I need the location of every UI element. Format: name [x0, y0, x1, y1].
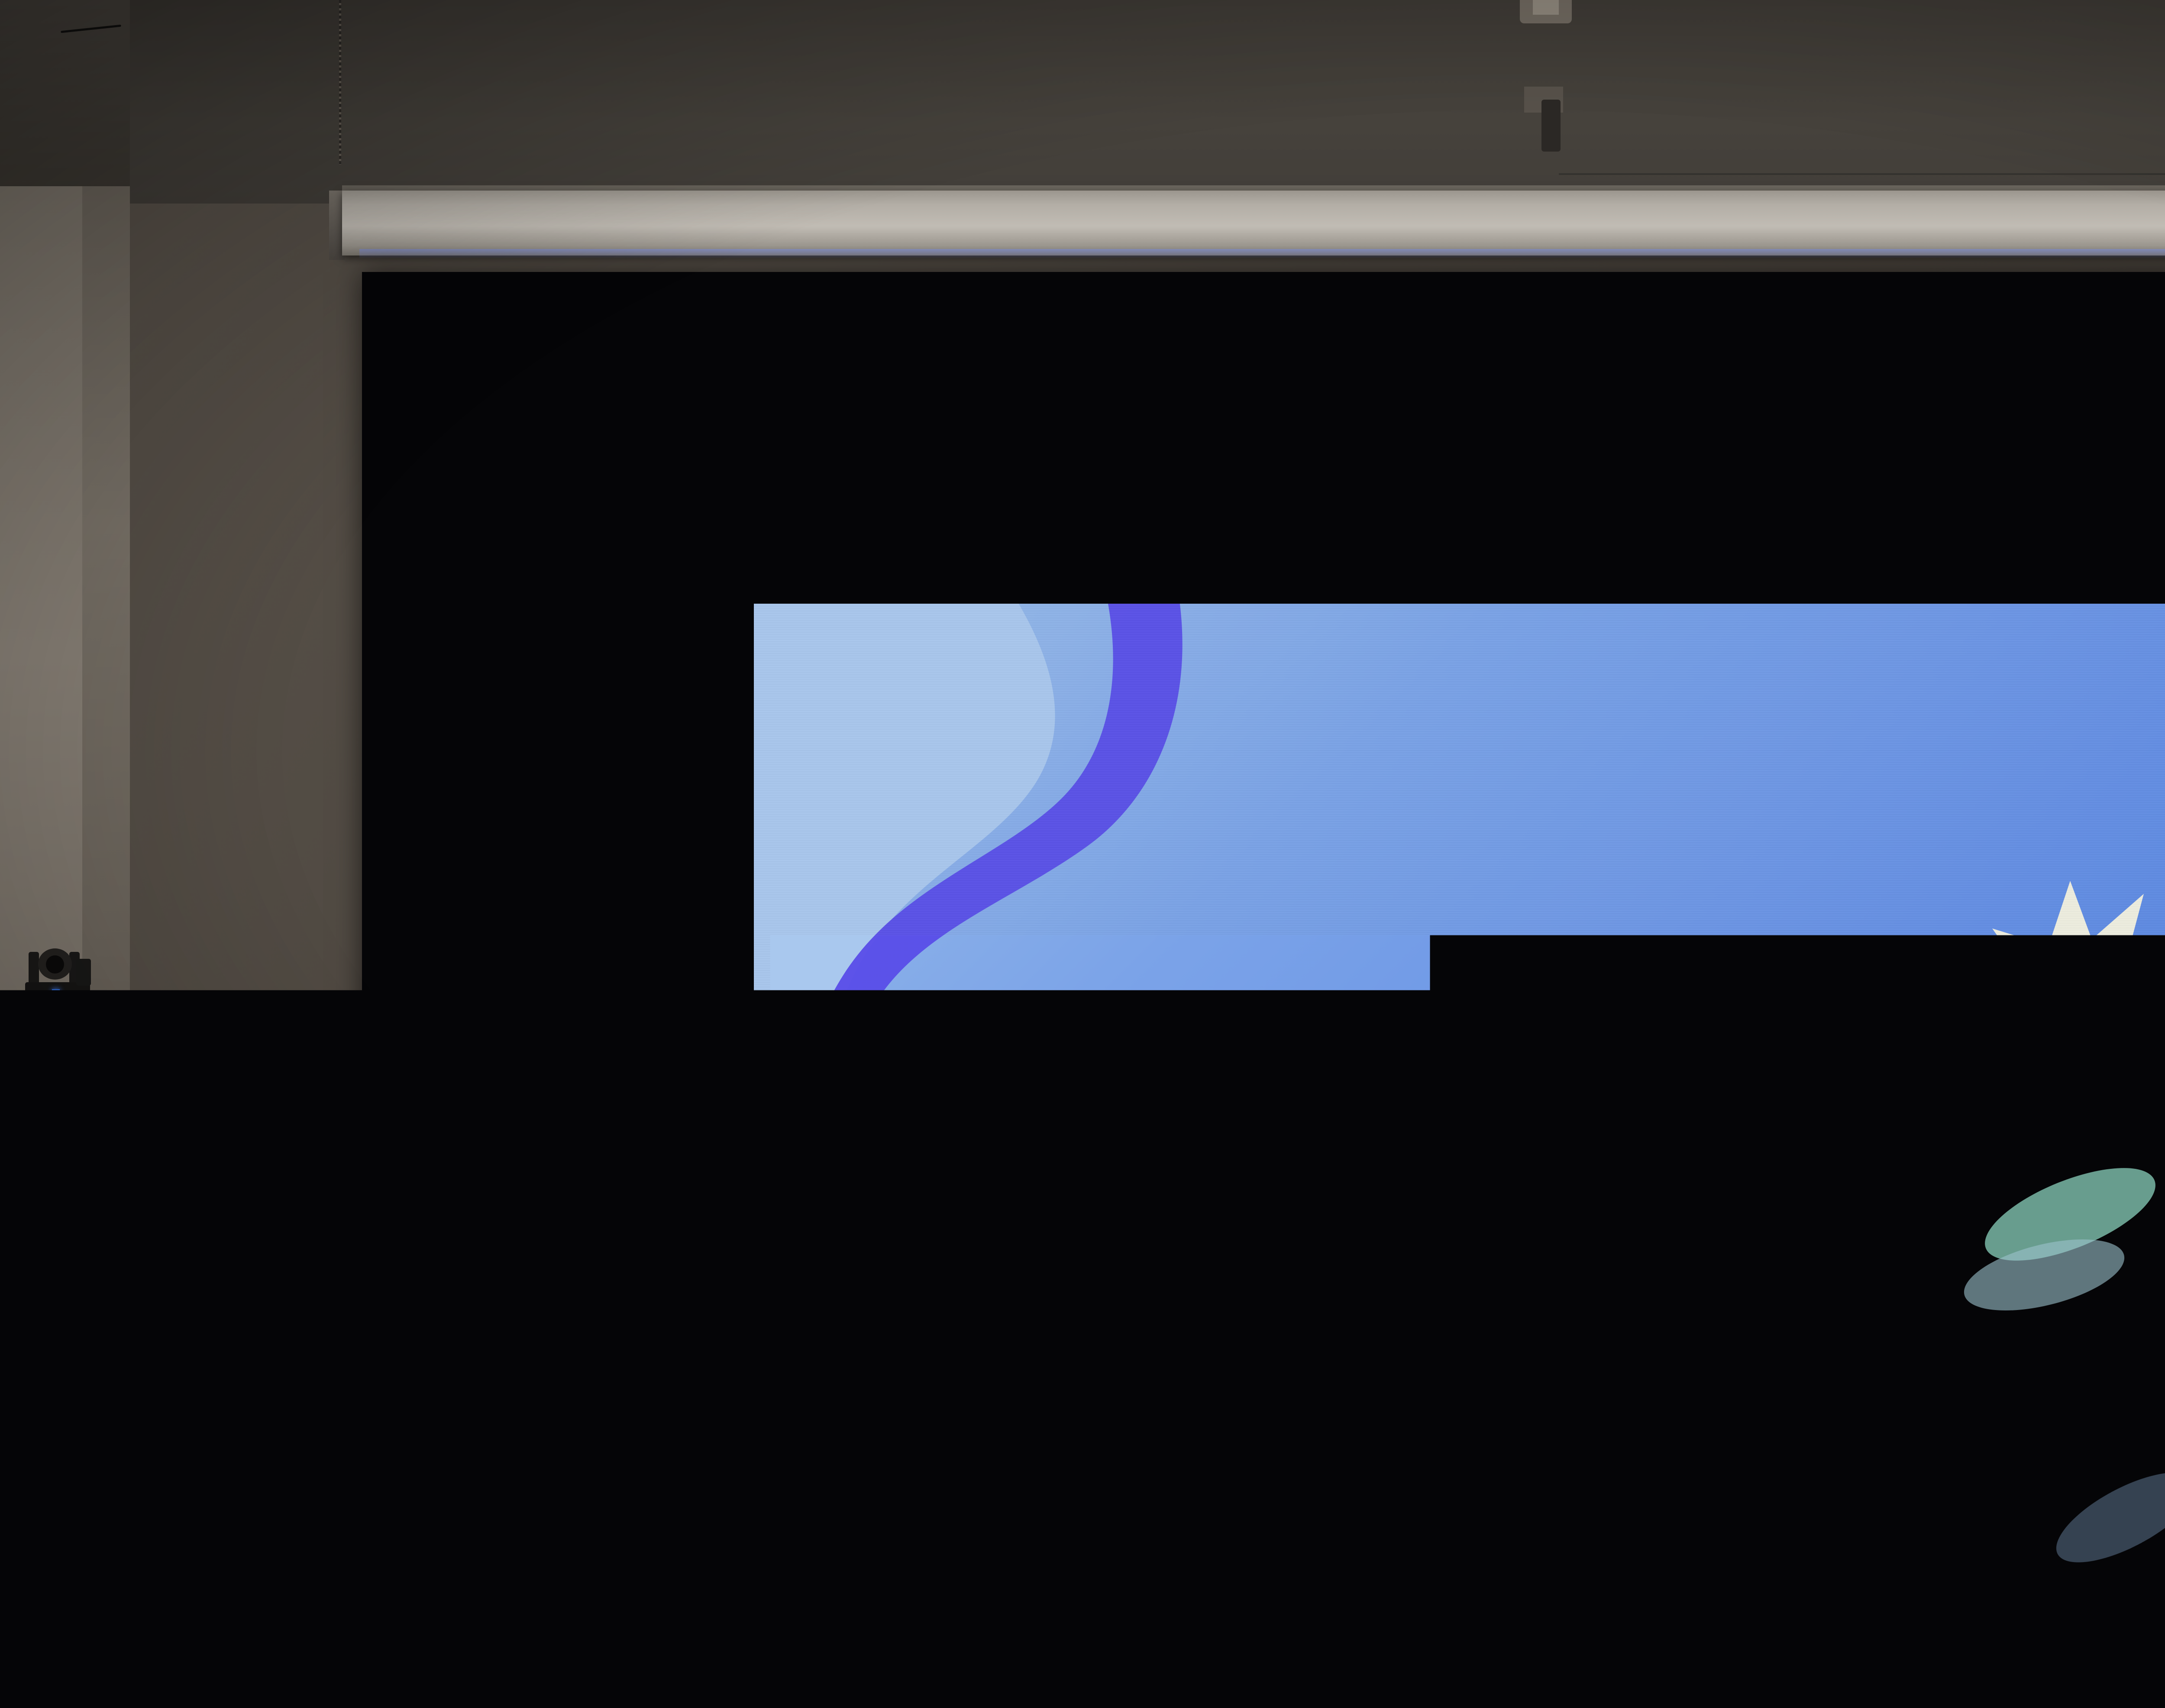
- slide-title-line-2: 专业学生介绍会: [957, 1173, 1823, 1270]
- ceiling-camera-icon: [1541, 100, 1561, 152]
- slide-title-line-1: 2025级艺术与科技: [957, 1076, 1823, 1173]
- camera-mount-arm: [76, 959, 91, 986]
- valance-glow: [359, 249, 2165, 259]
- camera-yoke-left: [29, 952, 39, 985]
- lecture-hall-scene: 南京艺术学院设计学院 校学生行为准则: [0, 0, 2165, 1708]
- projection-screen-housing: [342, 191, 2165, 256]
- poster-body-text: [4, 1158, 87, 1357]
- ceiling-device: [1533, 0, 1559, 15]
- wall-poster: 南京艺术学院设计学院 校学生行为准则: [0, 1096, 91, 1375]
- decor-blob-bottom-left: [754, 1526, 1187, 1708]
- poster-banner-text: 南京艺术学院设计学院: [4, 1100, 116, 1116]
- wall-mounted-ptz-camera: [25, 948, 90, 1000]
- hanging-chain: [339, 0, 341, 165]
- burst-star-group: [1975, 703, 2165, 1093]
- poster-title: 校学生行为准则: [3, 1130, 118, 1154]
- camera-status-led: [52, 989, 60, 994]
- presentation-slide: 2025级艺术与科技 专业学生介绍会: [754, 604, 2165, 1708]
- projection-screen-frame: 2025级艺术与科技 专业学生介绍会: [362, 272, 2165, 1480]
- poster-footer-band: [1, 1365, 90, 1374]
- left-wall-upper: [0, 0, 130, 191]
- figure-walking-left: [2128, 1153, 2165, 1658]
- ceiling-cable: [1559, 173, 2165, 175]
- slide-illustration: [1940, 703, 2165, 1708]
- slide-title: 2025级艺术与科技 专业学生介绍会: [957, 1076, 1823, 1270]
- camera-lens-icon: [46, 955, 64, 974]
